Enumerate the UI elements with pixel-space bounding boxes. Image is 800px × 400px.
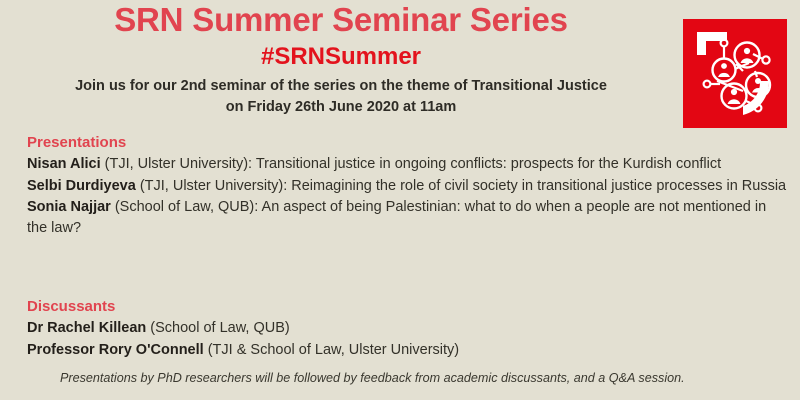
list-item: Professor Rory O'Connell (TJI & School o… (27, 340, 790, 361)
discussant-name: Dr Rachel Killean (27, 320, 146, 336)
page-title: SRN Summer Seminar Series (0, 2, 672, 38)
presenter-name: Sonia Najjar (27, 199, 111, 215)
event-subtitle: Join us for our 2nd seminar of the serie… (0, 76, 672, 117)
seminar-poster: SRN Summer Seminar Series #SRNSummer Joi… (0, 0, 800, 400)
presentations-heading: Presentations (27, 133, 790, 153)
subtitle-line-1: Join us for our 2nd seminar of the serie… (28, 76, 654, 97)
discussant-name: Professor Rory O'Connell (27, 342, 204, 358)
discussants-section: Discussants Dr Rachel Killean (School of… (27, 297, 790, 361)
network-people-icon (683, 19, 787, 128)
event-hashtag: #SRNSummer (0, 43, 672, 72)
subtitle-line-2: on Friday 26th June 2020 at 11am (28, 97, 654, 118)
srn-logo (683, 19, 787, 128)
discussant-detail: (School of Law, QUB) (146, 320, 289, 336)
list-item: Nisan Alici (TJI, Ulster University): Tr… (27, 154, 790, 175)
poster-header: SRN Summer Seminar Series #SRNSummer Joi… (0, 0, 672, 118)
discussant-detail: (TJI & School of Law, Ulster University) (204, 342, 459, 358)
presenter-detail: (School of Law, QUB): An aspect of being… (27, 199, 766, 236)
list-item: Dr Rachel Killean (School of Law, QUB) (27, 318, 790, 339)
presenter-detail: (TJI, Ulster University): Transitional j… (101, 156, 722, 172)
presenter-name: Selbi Durdiyeva (27, 178, 136, 194)
discussants-heading: Discussants (27, 297, 790, 317)
presenter-name: Nisan Alici (27, 156, 101, 172)
list-item: Sonia Najjar (School of Law, QUB): An as… (27, 197, 790, 240)
list-item: Selbi Durdiyeva (TJI, Ulster University)… (27, 176, 790, 197)
footnote-text: Presentations by PhD researchers will be… (60, 370, 788, 386)
presenter-detail: (TJI, Ulster University): Reimagining th… (136, 178, 786, 194)
presentations-section: Presentations Nisan Alici (TJI, Ulster U… (27, 133, 790, 240)
